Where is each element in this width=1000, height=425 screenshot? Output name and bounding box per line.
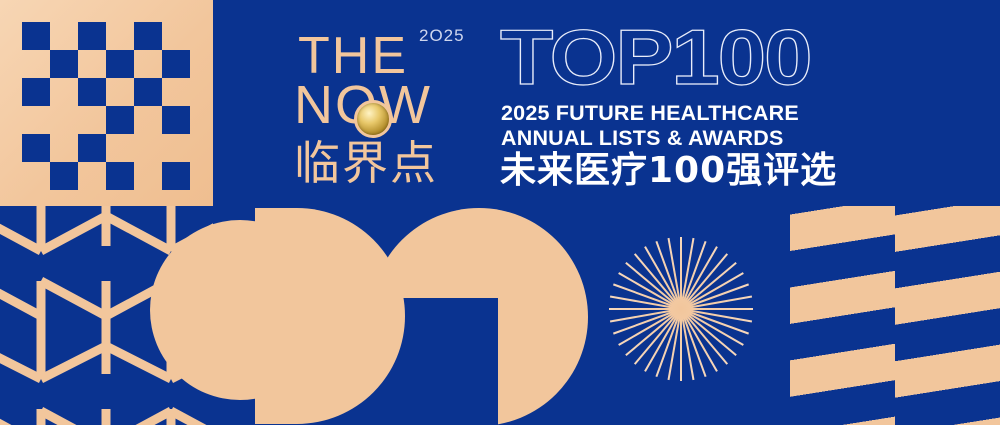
checker-cell-5-2 [78,162,106,190]
checker-cell-3-2 [78,106,106,134]
checker-cell-3-5 [162,106,190,134]
checker-cell-5-5 [162,162,190,190]
subtitle-cn: 未来医疗100强评选 [500,153,837,189]
checker-cell-1-1 [50,50,78,78]
checker-cell-4-1 [50,134,78,162]
checker-cell-0-4 [134,22,162,50]
notched-circle-shape [370,208,588,425]
checker-cell-0-3 [106,22,134,50]
notched-circle-icon [370,208,588,425]
checker-cell-1-5 [162,50,190,78]
checker-cell-0-5 [162,22,190,50]
logo-chinese-text: 临界点 [294,140,438,186]
checker-cell-5-3 [106,162,134,190]
gold-sphere-icon [354,100,392,138]
checker-cell-1-3 [106,50,134,78]
checker-cell-0-1 [50,22,78,50]
stripe-panel-left [790,206,895,425]
checker-cell-2-4 [134,78,162,106]
checker-cell-4-2 [78,134,106,162]
checkerboard-block [0,0,213,206]
checker-cell-3-0 [22,106,50,134]
checker-cell-0-0 [22,22,50,50]
checker-cell-3-4 [134,106,162,134]
checker-cell-1-0 [22,50,50,78]
sunburst-ray [609,308,681,310]
checker-cell-3-1 [50,106,78,134]
checker-cell-1-2 [78,50,106,78]
top100-outline-title: TOP100 [500,18,810,96]
sunburst-shape [596,224,766,394]
stripe-panel-right [895,206,1000,425]
logo-year-text: 2O25 [419,26,465,46]
checker-cell-3-3 [106,106,134,134]
checker-cell-4-0 [22,134,50,162]
checker-cell-4-5 [162,134,190,162]
checker-cell-5-4 [134,162,162,190]
subtitle-en-line-2: ANNUAL LISTS & AWARDS [501,128,784,150]
checker-cell-5-1 [50,162,78,190]
checker-cell-2-2 [78,78,106,106]
headline-block: TOP100 2025 FUTURE HEALTHCARE ANNUAL LIS… [500,20,860,200]
checker-cell-2-5 [162,78,190,106]
diagonal-stripes-block [790,206,1000,425]
checker-cell-4-4 [134,134,162,162]
the-now-logo: THE 2O25 NOW 临界点 [292,22,492,194]
checkerboard-grid [22,22,190,190]
banner-root: THE 2O25 NOW 临界点 TOP100 2025 FUTURE HEAL… [0,0,1000,425]
checker-cell-4-3 [106,134,134,162]
checker-cell-2-3 [106,78,134,106]
checker-cell-1-4 [134,50,162,78]
checker-cell-2-1 [50,78,78,106]
subtitle-en-line-1: 2025 FUTURE HEALTHCARE [501,103,799,125]
checker-cell-0-2 [78,22,106,50]
checker-cell-5-0 [22,162,50,190]
checker-cell-2-0 [22,78,50,106]
